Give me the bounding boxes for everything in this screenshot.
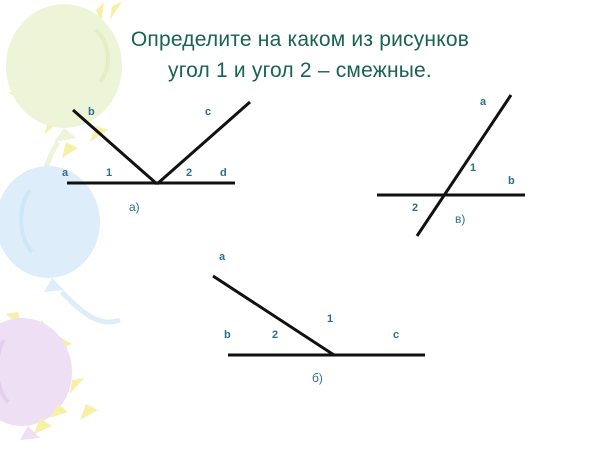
figure-a-label-1: 1 <box>106 168 112 179</box>
figure-v-label-b: b <box>508 176 515 187</box>
slide-canvas: Определите на каком из рисунков угол 1 и… <box>0 0 600 450</box>
figure-b-label-b: b <box>224 330 231 341</box>
figure-v-caption: в) <box>455 213 465 225</box>
figure-b-ray-a <box>213 276 334 355</box>
figure-v-label-2: 2 <box>412 203 418 214</box>
geometry-figures <box>0 0 600 450</box>
figure-b-label-a: a <box>219 252 225 263</box>
figure-a-label-b: b <box>88 107 95 118</box>
figure-a-label-2: 2 <box>186 168 192 179</box>
figure-b-label-2: 2 <box>272 330 278 341</box>
figure-a-label-a: a <box>62 168 68 179</box>
figure-b-label-1: 1 <box>327 314 333 325</box>
figure-a-caption: а) <box>129 201 140 213</box>
figure-v-lines <box>377 95 525 236</box>
figure-b-label-c: c <box>393 330 399 341</box>
figure-a-label-c: c <box>205 107 211 118</box>
figure-v-label-a: a <box>480 97 486 108</box>
figure-a-ray-c <box>157 102 250 184</box>
figure-b-caption: б) <box>312 372 323 384</box>
figure-a-label-d: d <box>220 168 227 179</box>
figure-b-lines <box>213 276 425 355</box>
figure-a-ray-b <box>73 110 157 184</box>
figure-v-label-1: 1 <box>470 163 476 174</box>
